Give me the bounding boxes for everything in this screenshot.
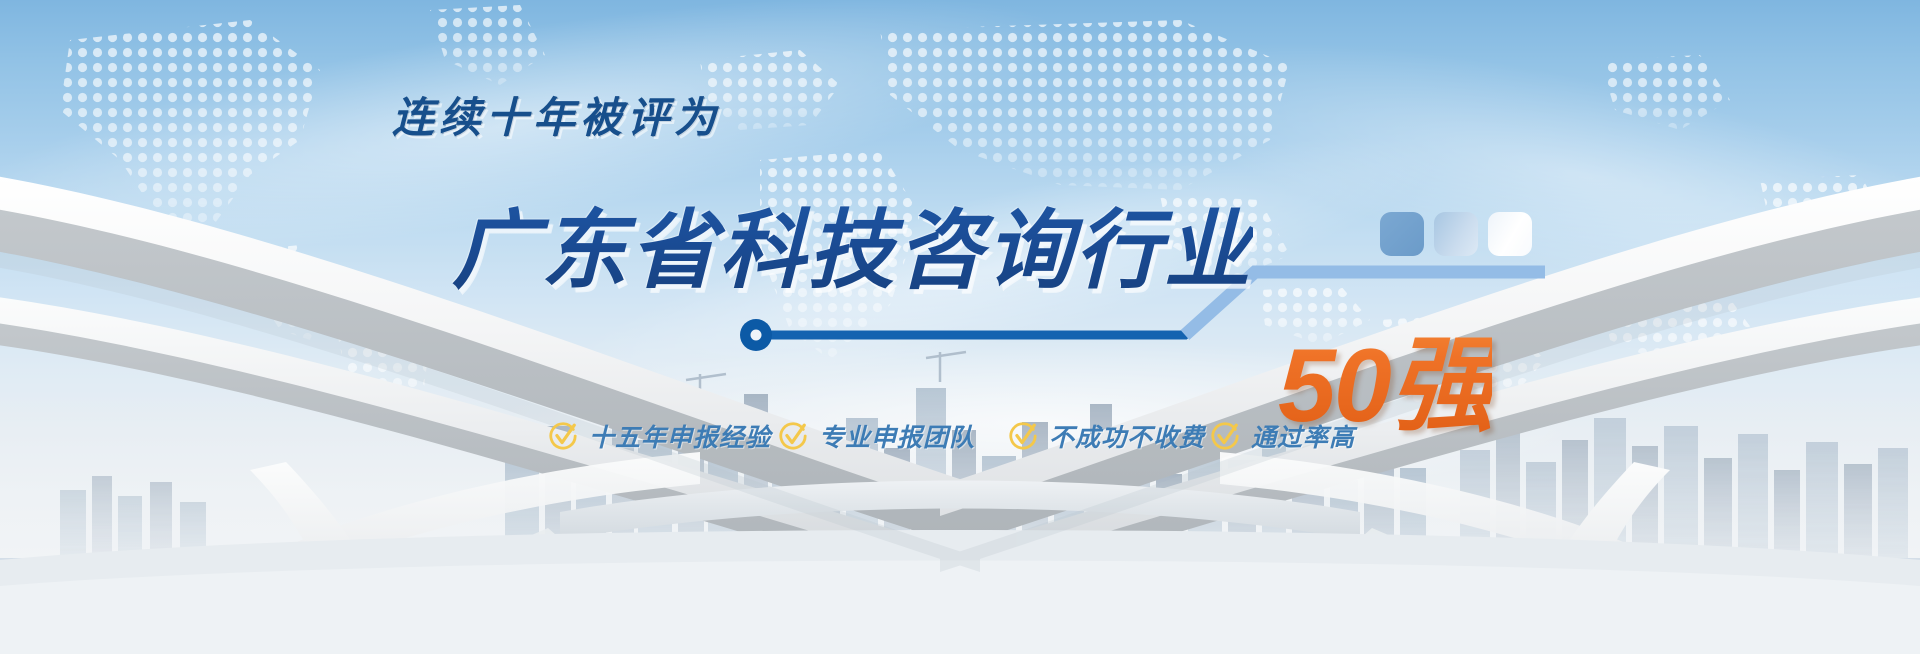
check-circle-icon (1210, 421, 1240, 451)
feature-item: 十五年申报经验 (548, 418, 771, 454)
feature-label: 专业申报团队 (819, 418, 975, 454)
check-circle-icon (778, 421, 808, 451)
feature-label: 通过率高 (1251, 418, 1355, 454)
banner-headline: 广东省科技咨询行业 (452, 180, 1253, 305)
feature-list: 十五年申报经验 专业申报团队 不成功不收费 通过率高 (0, 418, 1920, 478)
feature-label: 十五年申报经验 (589, 418, 771, 454)
feature-label: 不成功不收费 (1049, 418, 1205, 454)
feature-item: 专业申报团队 (778, 418, 975, 454)
feature-item: 不成功不收费 (1008, 418, 1205, 454)
promo-banner: 连续十年被评为 广东省科技咨询行业 50强 十五年申报经验 专业申报团队 不成功 (0, 0, 1920, 654)
check-circle-icon (548, 421, 578, 451)
feature-item: 通过率高 (1210, 418, 1355, 454)
banner-subtitle: 连续十年被评为 (392, 84, 721, 145)
check-circle-icon (1008, 421, 1038, 451)
